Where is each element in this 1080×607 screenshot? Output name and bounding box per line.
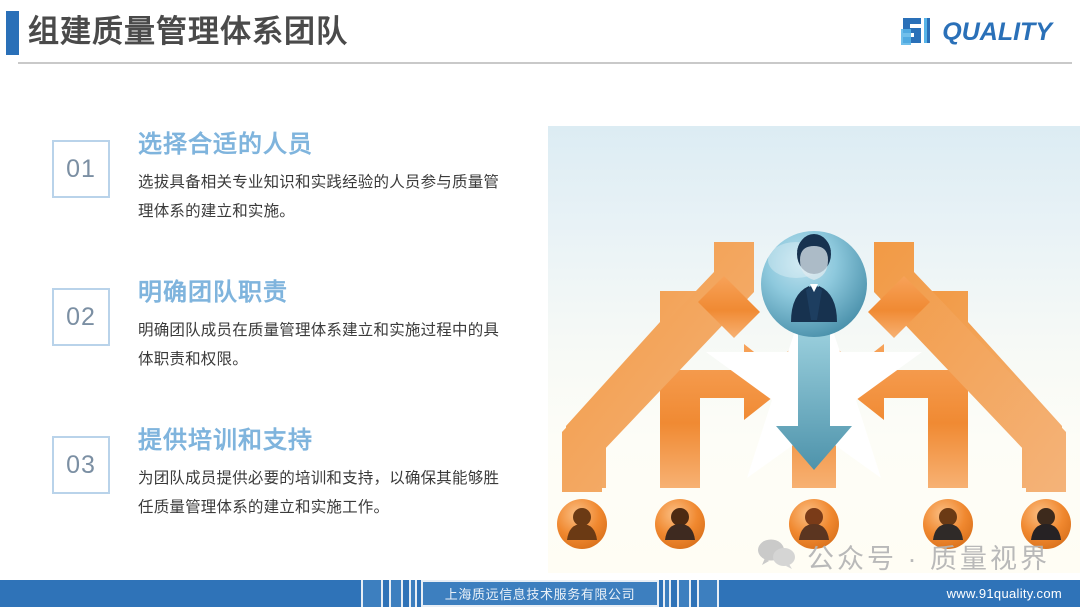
footer-bar-right-2 bbox=[677, 580, 691, 607]
step-heading: 提供培训和支持 bbox=[138, 424, 522, 458]
step-body: 提供培训和支持 为团队成员提供必要的培训和支持，以确保其能够胜任质量管理体系的建… bbox=[138, 424, 522, 522]
step-number-box: 02 bbox=[52, 288, 110, 346]
wechat-icon bbox=[757, 538, 797, 575]
step-number-box: 01 bbox=[52, 140, 110, 198]
watermark-text: 公众号 · 质量视界 bbox=[807, 537, 1050, 576]
brand-logo: QUALITY bbox=[899, 12, 1052, 52]
illustration-svg bbox=[548, 126, 1080, 573]
footer-url: www.91quality.com bbox=[947, 580, 1062, 607]
footer-bar-right-3 bbox=[697, 580, 719, 607]
logo-text: QUALITY bbox=[942, 18, 1052, 47]
footer-company-text: 上海质远信息技术服务有限公司 bbox=[445, 584, 635, 603]
member-avatar bbox=[557, 499, 607, 549]
steps-list: 01 选择合适的人员 选拔具备相关专业知识和实践经验的人员参与质量管理体系的建立… bbox=[52, 128, 522, 572]
step-body: 选择合适的人员 选拔具备相关专业知识和实践经验的人员参与质量管理体系的建立和实施… bbox=[138, 128, 522, 226]
step-description: 明确团队成员在质量管理体系建立和实施过程中的具体职责和权限。 bbox=[138, 316, 510, 374]
footer-bar-left-2 bbox=[389, 580, 403, 607]
step-number: 02 bbox=[66, 303, 96, 332]
slide-header: 组建质量管理体系团队 QUALITY bbox=[0, 0, 1080, 66]
footer-bar-left-1 bbox=[361, 580, 383, 607]
step-description: 选拔具备相关专业知识和实践经验的人员参与质量管理体系的建立和实施。 bbox=[138, 168, 510, 226]
title-accent-bar bbox=[6, 11, 19, 55]
step-heading: 明确团队职责 bbox=[138, 276, 522, 310]
header-divider bbox=[18, 62, 1072, 64]
list-item: 02 明确团队职责 明确团队成员在质量管理体系建立和实施过程中的具体职责和权限。 bbox=[52, 276, 522, 388]
page-title: 组建质量管理体系团队 bbox=[28, 8, 348, 56]
logo-91-icon bbox=[899, 15, 935, 49]
list-item: 03 提供培训和支持 为团队成员提供必要的培训和支持，以确保其能够胜任质量管理体… bbox=[52, 424, 522, 536]
member-avatar bbox=[655, 499, 705, 549]
step-number-box: 03 bbox=[52, 436, 110, 494]
footer-company-banner: 上海质远信息技术服务有限公司 bbox=[421, 580, 659, 607]
team-illustration bbox=[548, 126, 1080, 573]
step-number: 03 bbox=[66, 451, 96, 480]
step-body: 明确团队职责 明确团队成员在质量管理体系建立和实施过程中的具体职责和权限。 bbox=[138, 276, 522, 374]
footer-bar-left-3 bbox=[409, 580, 417, 607]
watermark: 公众号 · 质量视界 bbox=[757, 537, 1050, 576]
step-heading: 选择合适的人员 bbox=[138, 128, 522, 162]
slide-footer: 上海质远信息技术服务有限公司 www.91quality.com bbox=[0, 580, 1080, 607]
list-item: 01 选择合适的人员 选拔具备相关专业知识和实践经验的人员参与质量管理体系的建立… bbox=[52, 128, 522, 240]
footer-bar-right-1 bbox=[663, 580, 671, 607]
slide: 组建质量管理体系团队 QUALITY 01 选择合适的人员 选拔具备相关专业知识… bbox=[0, 0, 1080, 607]
step-number: 01 bbox=[66, 155, 96, 184]
step-description: 为团队成员提供必要的培训和支持，以确保其能够胜任质量管理体系的建立和实施工作。 bbox=[138, 464, 510, 522]
